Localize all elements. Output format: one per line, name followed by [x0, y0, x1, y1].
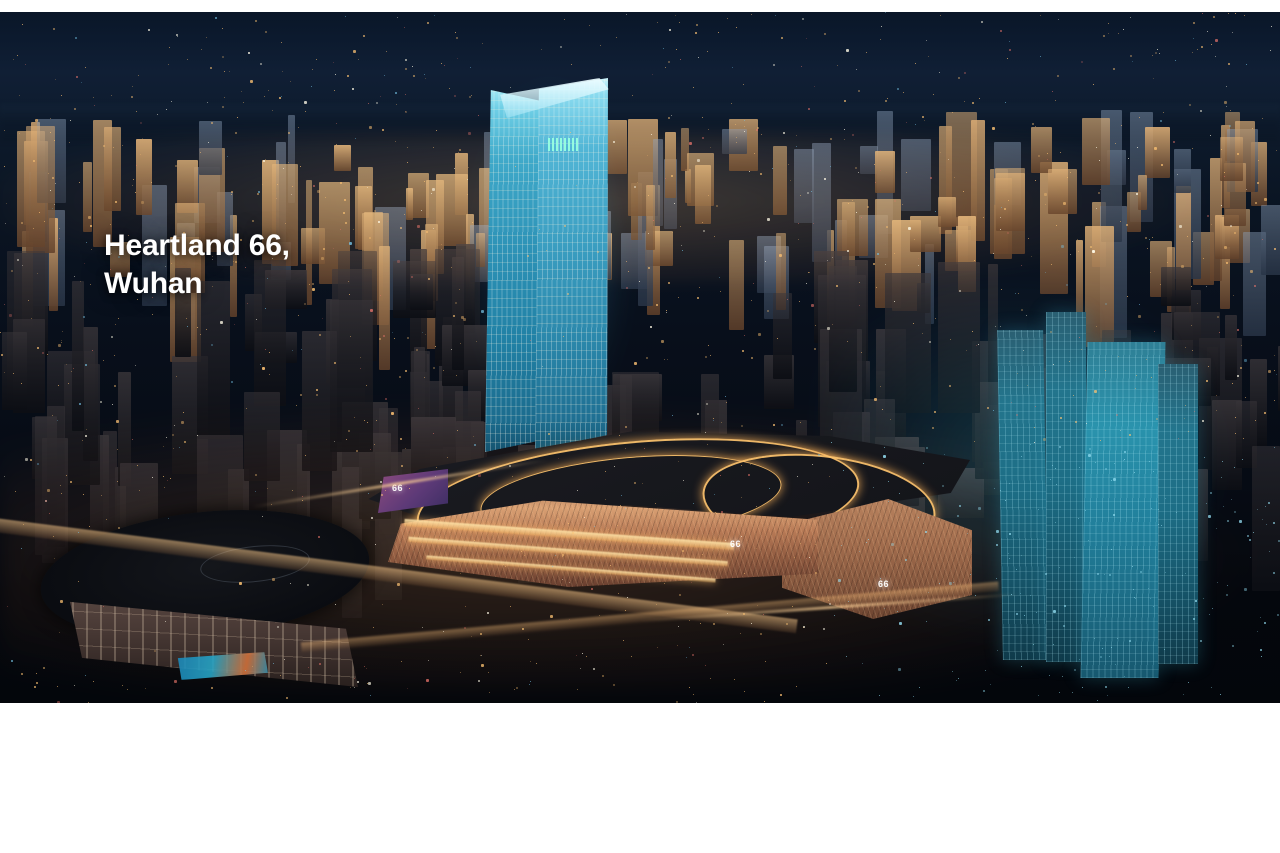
background-photo: 66 66 66 Heartland 66, Wuhan	[0, 12, 1280, 703]
tower-face-left	[485, 90, 541, 452]
heartland-66-tower	[485, 60, 611, 452]
glass-tower-right-1	[997, 330, 1049, 660]
photo-caption: Heartland 66, Wuhan	[104, 227, 290, 304]
tower-floor-lines-right	[535, 78, 611, 450]
midground-building	[773, 293, 792, 379]
mall-logo-right: 66	[878, 579, 889, 589]
glass-tower-right-4	[1158, 364, 1198, 664]
presentation-title-slide: 66 66 66 Heartland 66, Wuhan 2022 Interi	[0, 0, 1280, 853]
slide-footer: 2022 Interim Results Presentation July 2…	[0, 703, 1280, 853]
tower-facade-logo	[548, 138, 578, 151]
glass-tower-right-3	[1080, 342, 1165, 678]
glass-tower-right-2	[1046, 312, 1086, 662]
tower-face-right	[535, 78, 611, 450]
mall-logo-center: 66	[730, 539, 741, 549]
tower-floor-lines-left	[485, 90, 541, 452]
